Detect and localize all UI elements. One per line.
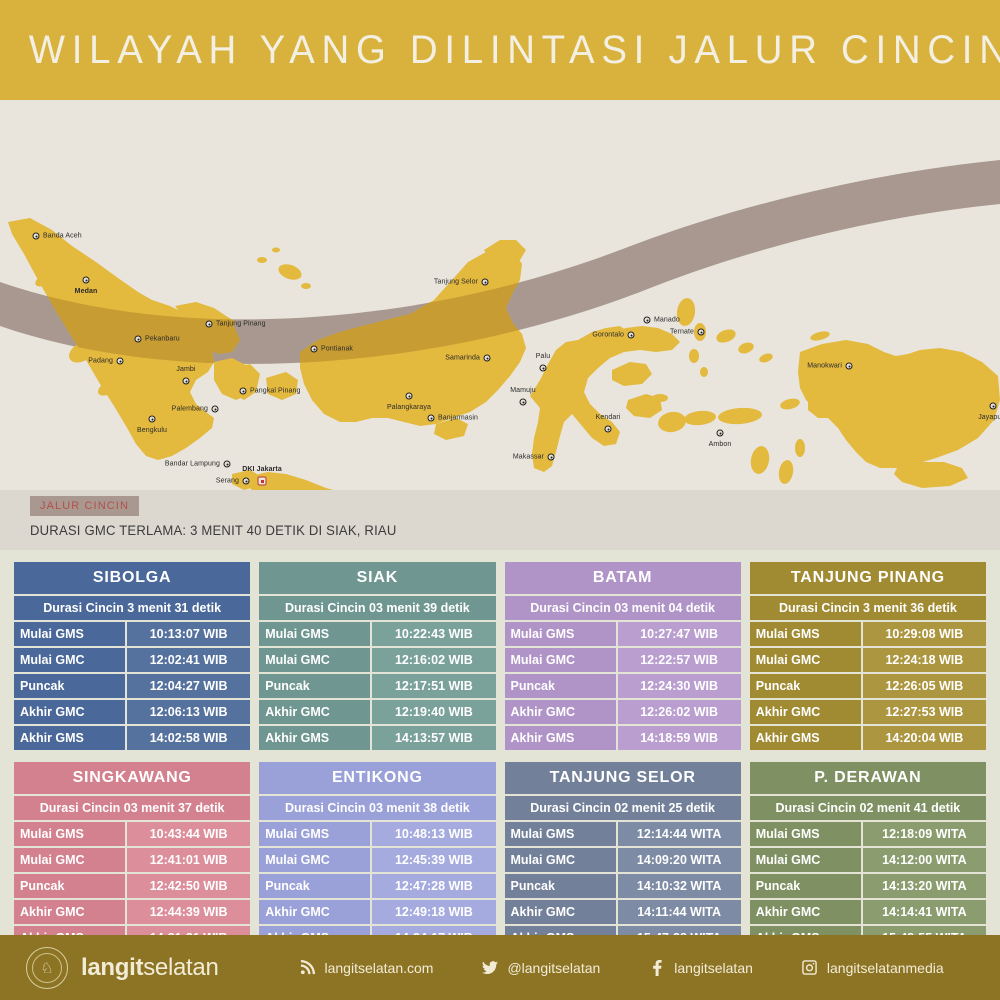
table-row: Akhir GMC12:19:40 WIB bbox=[259, 700, 495, 724]
card-title: ENTIKONG bbox=[259, 762, 495, 794]
row-label: Akhir GMC bbox=[750, 900, 861, 924]
city-label: Banjarmasin bbox=[438, 415, 478, 422]
city-marker bbox=[33, 233, 40, 240]
legend-jalur-cincin: JALUR CINCIN bbox=[30, 496, 139, 516]
city-label: Tanjung Selor bbox=[434, 279, 478, 286]
row-value: 12:02:41 WIB bbox=[127, 648, 250, 672]
card-duration-subtitle: Durasi Cincin 02 menit 41 detik bbox=[750, 796, 986, 820]
table-row: Mulai GMS10:43:44 WIB bbox=[14, 822, 250, 846]
row-label: Mulai GMC bbox=[750, 648, 861, 672]
city-marker bbox=[698, 329, 705, 336]
city-marker bbox=[482, 279, 489, 286]
row-label: Mulai GMS bbox=[505, 822, 616, 846]
card-duration-subtitle: Durasi Cincin 03 menit 38 detik bbox=[259, 796, 495, 820]
brand-name-bold: langit bbox=[81, 954, 143, 981]
row-value: 14:18:59 WIB bbox=[618, 726, 741, 750]
city-label: Jayapura bbox=[978, 414, 1000, 421]
row-value: 10:48:13 WIB bbox=[372, 822, 495, 846]
city-marker bbox=[717, 430, 724, 437]
city-marker bbox=[428, 415, 435, 422]
row-value: 12:26:02 WIB bbox=[618, 700, 741, 724]
row-value: 12:44:39 WIB bbox=[127, 900, 250, 924]
row-value: 14:09:20 WITA bbox=[618, 848, 741, 872]
row-value: 12:41:01 WIB bbox=[127, 848, 250, 872]
table-row: Puncak12:17:51 WIB bbox=[259, 674, 495, 698]
card-duration-subtitle: Durasi Cincin 02 menit 25 detik bbox=[505, 796, 741, 820]
row-label: Akhir GMC bbox=[259, 700, 370, 724]
footer-link-rss[interactable]: langitselatan.com bbox=[299, 959, 434, 976]
row-value: 14:11:44 WITA bbox=[618, 900, 741, 924]
footer-link-label: langitselatan.com bbox=[325, 960, 434, 976]
row-value: 10:22:43 WIB bbox=[372, 622, 495, 646]
city-marker bbox=[628, 332, 635, 339]
city-label: Kendari bbox=[596, 414, 621, 421]
row-label: Puncak bbox=[505, 674, 616, 698]
row-label: Puncak bbox=[14, 674, 125, 698]
table-row: Puncak12:47:28 WIB bbox=[259, 874, 495, 898]
row-label: Mulai GMS bbox=[14, 822, 125, 846]
table-row: Puncak14:10:32 WITA bbox=[505, 874, 741, 898]
table-row: Puncak14:13:20 WITA bbox=[750, 874, 986, 898]
city-label: Palembang bbox=[172, 406, 208, 413]
city-label: Banda Aceh bbox=[43, 233, 82, 240]
card-title: SIAK bbox=[259, 562, 495, 594]
row-value: 10:43:44 WIB bbox=[127, 822, 250, 846]
city-label: Samarinda bbox=[445, 355, 480, 362]
row-label: Akhir GMC bbox=[14, 900, 125, 924]
table-row: Puncak12:42:50 WIB bbox=[14, 874, 250, 898]
table-row: Mulai GMS10:48:13 WIB bbox=[259, 822, 495, 846]
row-value: 14:14:41 WITA bbox=[863, 900, 986, 924]
footer-link-instagram[interactable]: langitselatanmedia bbox=[801, 959, 944, 976]
row-value: 14:12:00 WITA bbox=[863, 848, 986, 872]
table-row: Akhir GMC14:11:44 WITA bbox=[505, 900, 741, 924]
city-marker bbox=[149, 416, 156, 423]
footer-links: langitselatan.com@langitselatanlangitsel… bbox=[299, 959, 944, 976]
table-row: Akhir GMC12:06:13 WIB bbox=[14, 700, 250, 724]
brand-name-light: selatan bbox=[143, 954, 218, 981]
card-p-derawan: P. DERAWANDurasi Cincin 02 menit 41 deti… bbox=[750, 762, 986, 952]
city-label: Medan bbox=[75, 288, 98, 295]
table-row: Puncak12:04:27 WIB bbox=[14, 674, 250, 698]
row-label: Akhir GMC bbox=[750, 700, 861, 724]
city-marker bbox=[258, 477, 267, 486]
city-marker bbox=[135, 336, 142, 343]
table-row: Akhir GMS14:18:59 WIB bbox=[505, 726, 741, 750]
map-legend-band: JALUR CINCIN DURASI GMC TERLAMA: 3 MENIT… bbox=[0, 490, 1000, 550]
page-title: WILAYAH YANG DILINTASI JALUR CINCIN bbox=[0, 28, 1000, 73]
table-row: Mulai GMC12:02:41 WIB bbox=[14, 648, 250, 672]
row-value: 12:14:44 WITA bbox=[618, 822, 741, 846]
table-row: Puncak12:26:05 WIB bbox=[750, 674, 986, 698]
city-label: DKI Jakarta bbox=[242, 466, 282, 473]
table-row: Mulai GMS10:29:08 WIB bbox=[750, 622, 986, 646]
city-label: Manokwari bbox=[807, 363, 842, 370]
table-row: Mulai GMS10:22:43 WIB bbox=[259, 622, 495, 646]
facebook-icon bbox=[648, 959, 665, 976]
card-title: TANJUNG PINANG bbox=[750, 562, 986, 594]
city-label: Makassar bbox=[513, 454, 544, 461]
row-label: Akhir GMS bbox=[505, 726, 616, 750]
row-value: 14:13:20 WITA bbox=[863, 874, 986, 898]
row-label: Puncak bbox=[14, 874, 125, 898]
city-marker bbox=[605, 426, 612, 433]
table-row: Akhir GMC14:14:41 WITA bbox=[750, 900, 986, 924]
row-value: 14:10:32 WITA bbox=[618, 874, 741, 898]
card-tanjung-selor: TANJUNG SELORDurasi Cincin 02 menit 25 d… bbox=[505, 762, 741, 952]
city-marker bbox=[117, 358, 124, 365]
langitselatan-logo-icon: ♘ bbox=[26, 947, 68, 989]
row-label: Akhir GMS bbox=[750, 726, 861, 750]
row-value: 12:19:40 WIB bbox=[372, 700, 495, 724]
city-marker bbox=[240, 388, 247, 395]
row-label: Akhir GMC bbox=[505, 900, 616, 924]
card-title: TANJUNG SELOR bbox=[505, 762, 741, 794]
twitter-icon bbox=[481, 959, 498, 976]
table-row: Mulai GMC12:22:57 WIB bbox=[505, 648, 741, 672]
instagram-icon bbox=[801, 959, 818, 976]
row-value: 12:45:39 WIB bbox=[372, 848, 495, 872]
table-row: Mulai GMC12:45:39 WIB bbox=[259, 848, 495, 872]
city-marker bbox=[406, 393, 413, 400]
city-marker bbox=[540, 365, 547, 372]
table-row: Mulai GMC14:09:20 WITA bbox=[505, 848, 741, 872]
card-title: BATAM bbox=[505, 562, 741, 594]
city-marker bbox=[846, 363, 853, 370]
city-marker bbox=[212, 406, 219, 413]
card-sibolga: SIBOLGADurasi Cincin 3 menit 31 detikMul… bbox=[14, 562, 250, 752]
table-row: Mulai GMC12:41:01 WIB bbox=[14, 848, 250, 872]
city-marker bbox=[644, 317, 651, 324]
city-marker bbox=[243, 478, 250, 485]
row-value: 10:27:47 WIB bbox=[618, 622, 741, 646]
city-marker bbox=[224, 461, 231, 468]
city-marker bbox=[206, 321, 213, 328]
row-value: 12:24:30 WIB bbox=[618, 674, 741, 698]
row-value: 12:18:09 WITA bbox=[863, 822, 986, 846]
city-label: Pangkal Pinang bbox=[250, 388, 300, 395]
row-value: 14:20:04 WIB bbox=[863, 726, 986, 750]
table-row: Puncak12:24:30 WIB bbox=[505, 674, 741, 698]
row-label: Mulai GMS bbox=[14, 622, 125, 646]
row-value: 12:17:51 WIB bbox=[372, 674, 495, 698]
row-label: Mulai GMS bbox=[259, 622, 370, 646]
row-value: 12:16:02 WIB bbox=[372, 648, 495, 672]
card-siak: SIAKDurasi Cincin 03 menit 39 detikMulai… bbox=[259, 562, 495, 752]
city-label: Mamuju bbox=[510, 387, 536, 394]
row-value: 12:24:18 WIB bbox=[863, 648, 986, 672]
row-label: Puncak bbox=[505, 874, 616, 898]
row-label: Puncak bbox=[750, 674, 861, 698]
row-label: Akhir GMC bbox=[259, 900, 370, 924]
city-marker bbox=[311, 346, 318, 353]
footer-link-facebook[interactable]: langitselatan bbox=[648, 959, 753, 976]
table-row: Mulai GMC12:24:18 WIB bbox=[750, 648, 986, 672]
legend-note: DURASI GMC TERLAMA: 3 MENIT 40 DETIK DI … bbox=[30, 523, 971, 538]
row-value: 12:04:27 WIB bbox=[127, 674, 250, 698]
row-label: Akhir GMS bbox=[259, 726, 370, 750]
city-label: Ambon bbox=[709, 441, 732, 448]
city-timing-cards: SIBOLGADurasi Cincin 3 menit 31 detikMul… bbox=[0, 550, 1000, 952]
city-label: Serang bbox=[216, 478, 239, 485]
row-label: Mulai GMC bbox=[259, 648, 370, 672]
row-label: Mulai GMC bbox=[14, 848, 125, 872]
row-label: Mulai GMC bbox=[505, 648, 616, 672]
row-label: Puncak bbox=[259, 674, 370, 698]
table-row: Mulai GMS10:13:07 WIB bbox=[14, 622, 250, 646]
row-label: Mulai GMC bbox=[259, 848, 370, 872]
row-label: Mulai GMS bbox=[750, 822, 861, 846]
card-batam: BATAMDurasi Cincin 03 menit 04 detikMula… bbox=[505, 562, 741, 752]
brand-wordmark: langitselatan bbox=[81, 954, 219, 982]
city-label: Bengkulu bbox=[137, 427, 167, 434]
city-marker bbox=[990, 403, 997, 410]
city-label: Tanjung Pinang bbox=[216, 321, 266, 328]
table-row: Akhir GMC12:44:39 WIB bbox=[14, 900, 250, 924]
card-duration-subtitle: Durasi Cincin 3 menit 36 detik bbox=[750, 596, 986, 620]
row-label: Mulai GMC bbox=[750, 848, 861, 872]
row-label: Mulai GMS bbox=[750, 622, 861, 646]
row-label: Mulai GMC bbox=[505, 848, 616, 872]
infographic-page: WILAYAH YANG DILINTASI JALUR CINCIN bbox=[0, 0, 1000, 1000]
card-duration-subtitle: Durasi Cincin 03 menit 37 detik bbox=[14, 796, 250, 820]
row-value: 12:47:28 WIB bbox=[372, 874, 495, 898]
rss-icon bbox=[299, 959, 316, 976]
row-value: 12:06:13 WIB bbox=[127, 700, 250, 724]
row-label: Puncak bbox=[750, 874, 861, 898]
footer-link-label: langitselatan bbox=[674, 960, 753, 976]
map-area: Banda AcehMedanPekanbaruPadangJambiBengk… bbox=[0, 100, 1000, 490]
table-row: Akhir GMS14:13:57 WIB bbox=[259, 726, 495, 750]
row-label: Akhir GMC bbox=[14, 700, 125, 724]
city-label: Manado bbox=[654, 317, 680, 324]
row-label: Mulai GMS bbox=[505, 622, 616, 646]
city-label: Pekanbaru bbox=[145, 336, 180, 343]
row-value: 12:49:18 WIB bbox=[372, 900, 495, 924]
row-label: Akhir GMC bbox=[505, 700, 616, 724]
table-row: Mulai GMS12:14:44 WITA bbox=[505, 822, 741, 846]
row-label: Mulai GMC bbox=[14, 648, 125, 672]
header-bar: WILAYAH YANG DILINTASI JALUR CINCIN bbox=[0, 0, 1000, 100]
card-title: P. DERAWAN bbox=[750, 762, 986, 794]
footer-bar: ♘ langitselatan langitselatan.com@langit… bbox=[0, 935, 1000, 1000]
card-duration-subtitle: Durasi Cincin 03 menit 04 detik bbox=[505, 596, 741, 620]
footer-link-twitter[interactable]: @langitselatan bbox=[481, 959, 600, 976]
table-row: Mulai GMC12:16:02 WIB bbox=[259, 648, 495, 672]
table-row: Mulai GMC14:12:00 WITA bbox=[750, 848, 986, 872]
footer-link-label: @langitselatan bbox=[507, 960, 600, 976]
city-label: Gorontalo bbox=[592, 332, 624, 339]
row-value: 10:13:07 WIB bbox=[127, 622, 250, 646]
row-value: 12:26:05 WIB bbox=[863, 674, 986, 698]
row-value: 12:22:57 WIB bbox=[618, 648, 741, 672]
card-entikong: ENTIKONGDurasi Cincin 03 menit 38 detikM… bbox=[259, 762, 495, 952]
card-title: SINGKAWANG bbox=[14, 762, 250, 794]
city-label: Pontianak bbox=[321, 346, 353, 353]
seal-inner: ♘ bbox=[32, 953, 62, 983]
city-marker bbox=[548, 454, 555, 461]
brand: ♘ langitselatan bbox=[26, 947, 219, 989]
row-value: 14:13:57 WIB bbox=[372, 726, 495, 750]
city-marker bbox=[520, 399, 527, 406]
row-value: 10:29:08 WIB bbox=[863, 622, 986, 646]
table-row: Akhir GMC12:49:18 WIB bbox=[259, 900, 495, 924]
city-marker bbox=[83, 277, 90, 284]
city-label: Ternate bbox=[670, 329, 694, 336]
table-row: Mulai GMS10:27:47 WIB bbox=[505, 622, 741, 646]
city-label: Bandar Lampung bbox=[165, 461, 220, 468]
row-value: 12:42:50 WIB bbox=[127, 874, 250, 898]
city-label: Jambi bbox=[176, 366, 195, 373]
table-row: Akhir GMC12:27:53 WIB bbox=[750, 700, 986, 724]
card-duration-subtitle: Durasi Cincin 03 menit 39 detik bbox=[259, 596, 495, 620]
city-label: Padang bbox=[88, 358, 113, 365]
row-value: 14:02:58 WIB bbox=[127, 726, 250, 750]
row-label: Mulai GMS bbox=[259, 822, 370, 846]
card-singkawang: SINGKAWANGDurasi Cincin 03 menit 37 deti… bbox=[14, 762, 250, 952]
card-tanjung-pinang: TANJUNG PINANGDurasi Cincin 3 menit 36 d… bbox=[750, 562, 986, 752]
table-row: Akhir GMS14:02:58 WIB bbox=[14, 726, 250, 750]
row-value: 12:27:53 WIB bbox=[863, 700, 986, 724]
row-label: Puncak bbox=[259, 874, 370, 898]
city-label: Palu bbox=[536, 353, 550, 360]
city-marker bbox=[484, 355, 491, 362]
table-row: Mulai GMS12:18:09 WITA bbox=[750, 822, 986, 846]
card-title: SIBOLGA bbox=[14, 562, 250, 594]
table-row: Akhir GMS14:20:04 WIB bbox=[750, 726, 986, 750]
row-label: Akhir GMS bbox=[14, 726, 125, 750]
city-marker bbox=[183, 378, 190, 385]
card-duration-subtitle: Durasi Cincin 3 menit 31 detik bbox=[14, 596, 250, 620]
footer-link-label: langitselatanmedia bbox=[827, 960, 944, 976]
table-row: Akhir GMC12:26:02 WIB bbox=[505, 700, 741, 724]
city-label: Palangkaraya bbox=[387, 404, 431, 411]
